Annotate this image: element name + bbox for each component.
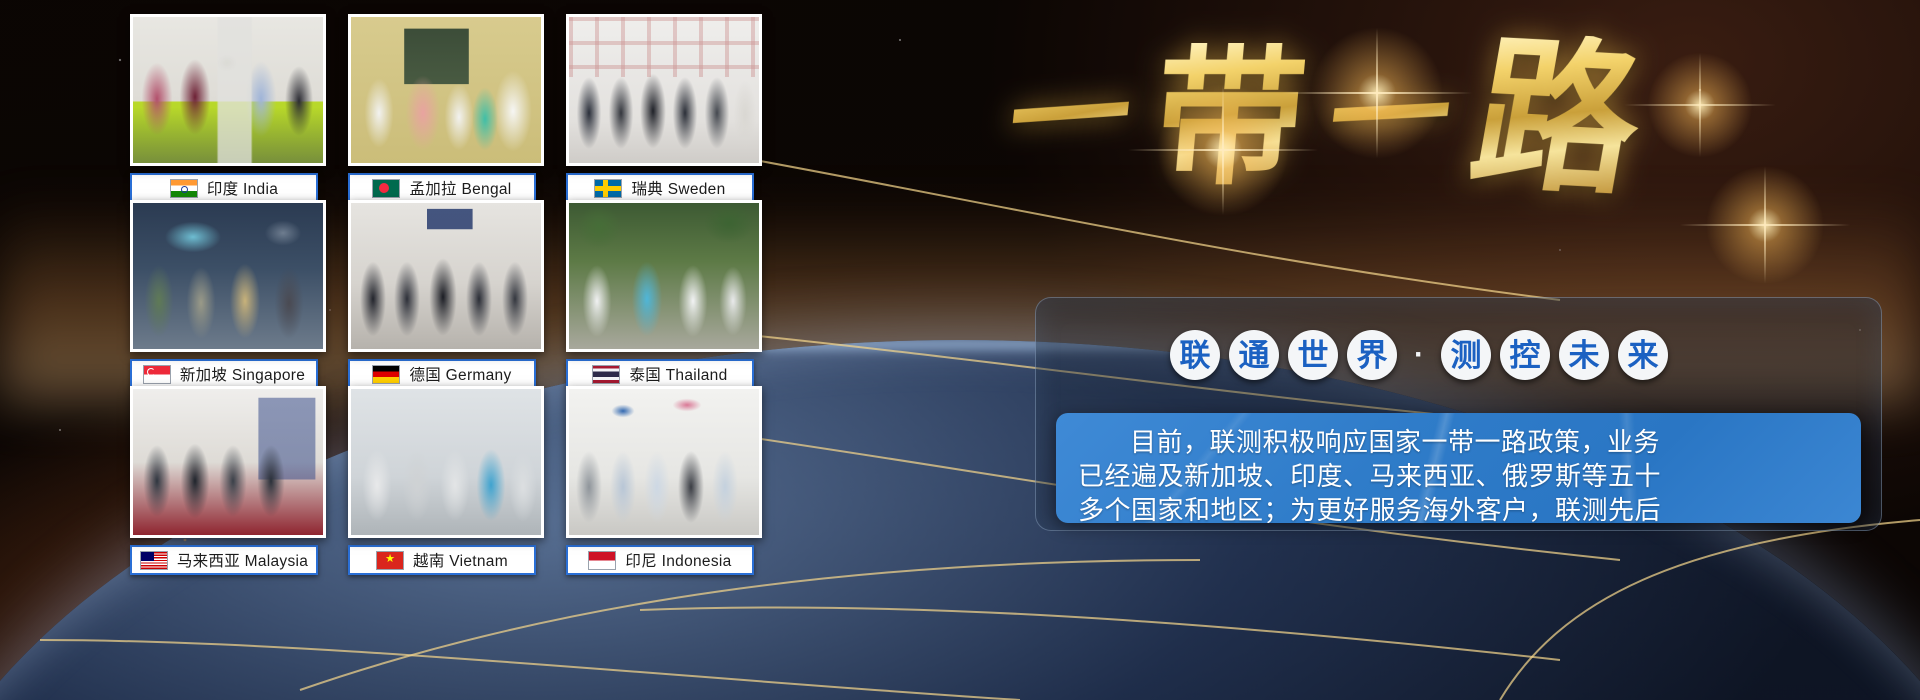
description-line: 目前，联测积极响应国家一带一路政策，业务 — [1078, 425, 1839, 459]
photo-thumbnail — [566, 200, 762, 352]
photo-thumbnail — [566, 386, 762, 538]
slogan-char: 未 — [1559, 330, 1609, 380]
headline-calligraphy: 一 带 一 路 — [1010, 10, 1640, 225]
photo-thumbnail — [566, 14, 762, 166]
bengal-flag-icon — [372, 179, 400, 198]
photo-card-singapore[interactable]: 新加坡 Singapore — [130, 200, 326, 386]
headline-char-3: 一 — [1322, 54, 1458, 180]
description-text-box: 目前，联测积极响应国家一带一路政策，业务 已经遍及新加坡、印度、马来西亚、俄罗斯… — [1056, 413, 1861, 523]
slogan-char: 联 — [1170, 330, 1220, 380]
photo-card-bengal[interactable]: 孟加拉 Bengal — [348, 14, 544, 200]
photo-thumbnail — [348, 386, 544, 538]
country-label: 马来西亚 Malaysia — [130, 545, 318, 575]
photo-card-sweden[interactable]: 瑞典 Sweden — [566, 14, 762, 200]
country-label: 越南 Vietnam — [348, 545, 536, 575]
belt-and-road-banner: 一 带 一 路 印度 India — [0, 0, 1920, 700]
singapore-flag-icon — [143, 365, 171, 384]
country-label-text: 印尼 Indonesia — [625, 549, 731, 571]
description-line: 多个国家和地区；为更好服务海外客户，联测先后 — [1078, 493, 1839, 523]
country-label: 新加坡 Singapore — [130, 359, 318, 389]
photo-thumbnail — [130, 200, 326, 352]
country-label-text: 马来西亚 Malaysia — [177, 549, 308, 571]
photo-thumbnail — [348, 14, 544, 166]
headline-char-1: 一 — [1003, 53, 1137, 181]
country-label: 印尼 Indonesia — [566, 545, 754, 575]
headline-char-4: 路 — [1461, 31, 1654, 204]
photo-thumbnail — [130, 14, 326, 166]
country-photo-grid: 印度 India 孟加拉 Bengal 瑞典 Sweden — [130, 14, 762, 572]
slogan-char: 测 — [1441, 330, 1491, 380]
photo-card-germany[interactable]: 德国 Germany — [348, 200, 544, 386]
country-label-text: 印度 India — [207, 177, 278, 199]
country-label-text: 德国 Germany — [409, 363, 511, 385]
country-label: 德国 Germany — [348, 359, 536, 389]
slogan-char: 控 — [1500, 330, 1550, 380]
country-label-text: 瑞典 Sweden — [631, 177, 725, 199]
slogan-char: 世 — [1288, 330, 1338, 380]
germany-flag-icon — [372, 365, 400, 384]
slogan-char: 界 — [1347, 330, 1397, 380]
thailand-flag-icon — [592, 365, 620, 384]
india-flag-icon — [170, 179, 198, 198]
company-slogan: 联 通 世 界 · 测 控 未 来 — [1170, 330, 1668, 380]
country-label-text: 越南 Vietnam — [413, 549, 508, 571]
sweden-flag-icon — [594, 179, 622, 198]
indonesia-flag-icon — [588, 551, 616, 570]
slogan-char: 来 — [1618, 330, 1668, 380]
photo-thumbnail — [348, 200, 544, 352]
description-line: 已经遍及新加坡、印度、马来西亚、俄罗斯等五十 — [1078, 459, 1839, 493]
country-label: 泰国 Thailand — [566, 359, 754, 389]
photo-card-india[interactable]: 印度 India — [130, 14, 326, 200]
slogan-char: 通 — [1229, 330, 1279, 380]
headline-char-2: 带 — [1148, 43, 1311, 193]
country-label-text: 新加坡 Singapore — [180, 363, 305, 385]
country-label-text: 孟加拉 Bengal — [409, 177, 511, 199]
country-label: 印度 India — [130, 173, 318, 203]
country-label-text: 泰国 Thailand — [629, 363, 727, 385]
vietnam-flag-icon — [376, 551, 404, 570]
slogan-separator-dot: · — [1406, 330, 1432, 380]
malaysia-flag-icon — [140, 551, 168, 570]
photo-card-thailand[interactable]: 泰国 Thailand — [566, 200, 762, 386]
photo-card-vietnam[interactable]: 越南 Vietnam — [348, 386, 544, 572]
photo-card-indonesia[interactable]: 印尼 Indonesia — [566, 386, 762, 572]
country-label: 孟加拉 Bengal — [348, 173, 536, 203]
photo-card-malaysia[interactable]: 马来西亚 Malaysia — [130, 386, 326, 572]
country-label: 瑞典 Sweden — [566, 173, 754, 203]
photo-thumbnail — [130, 386, 326, 538]
